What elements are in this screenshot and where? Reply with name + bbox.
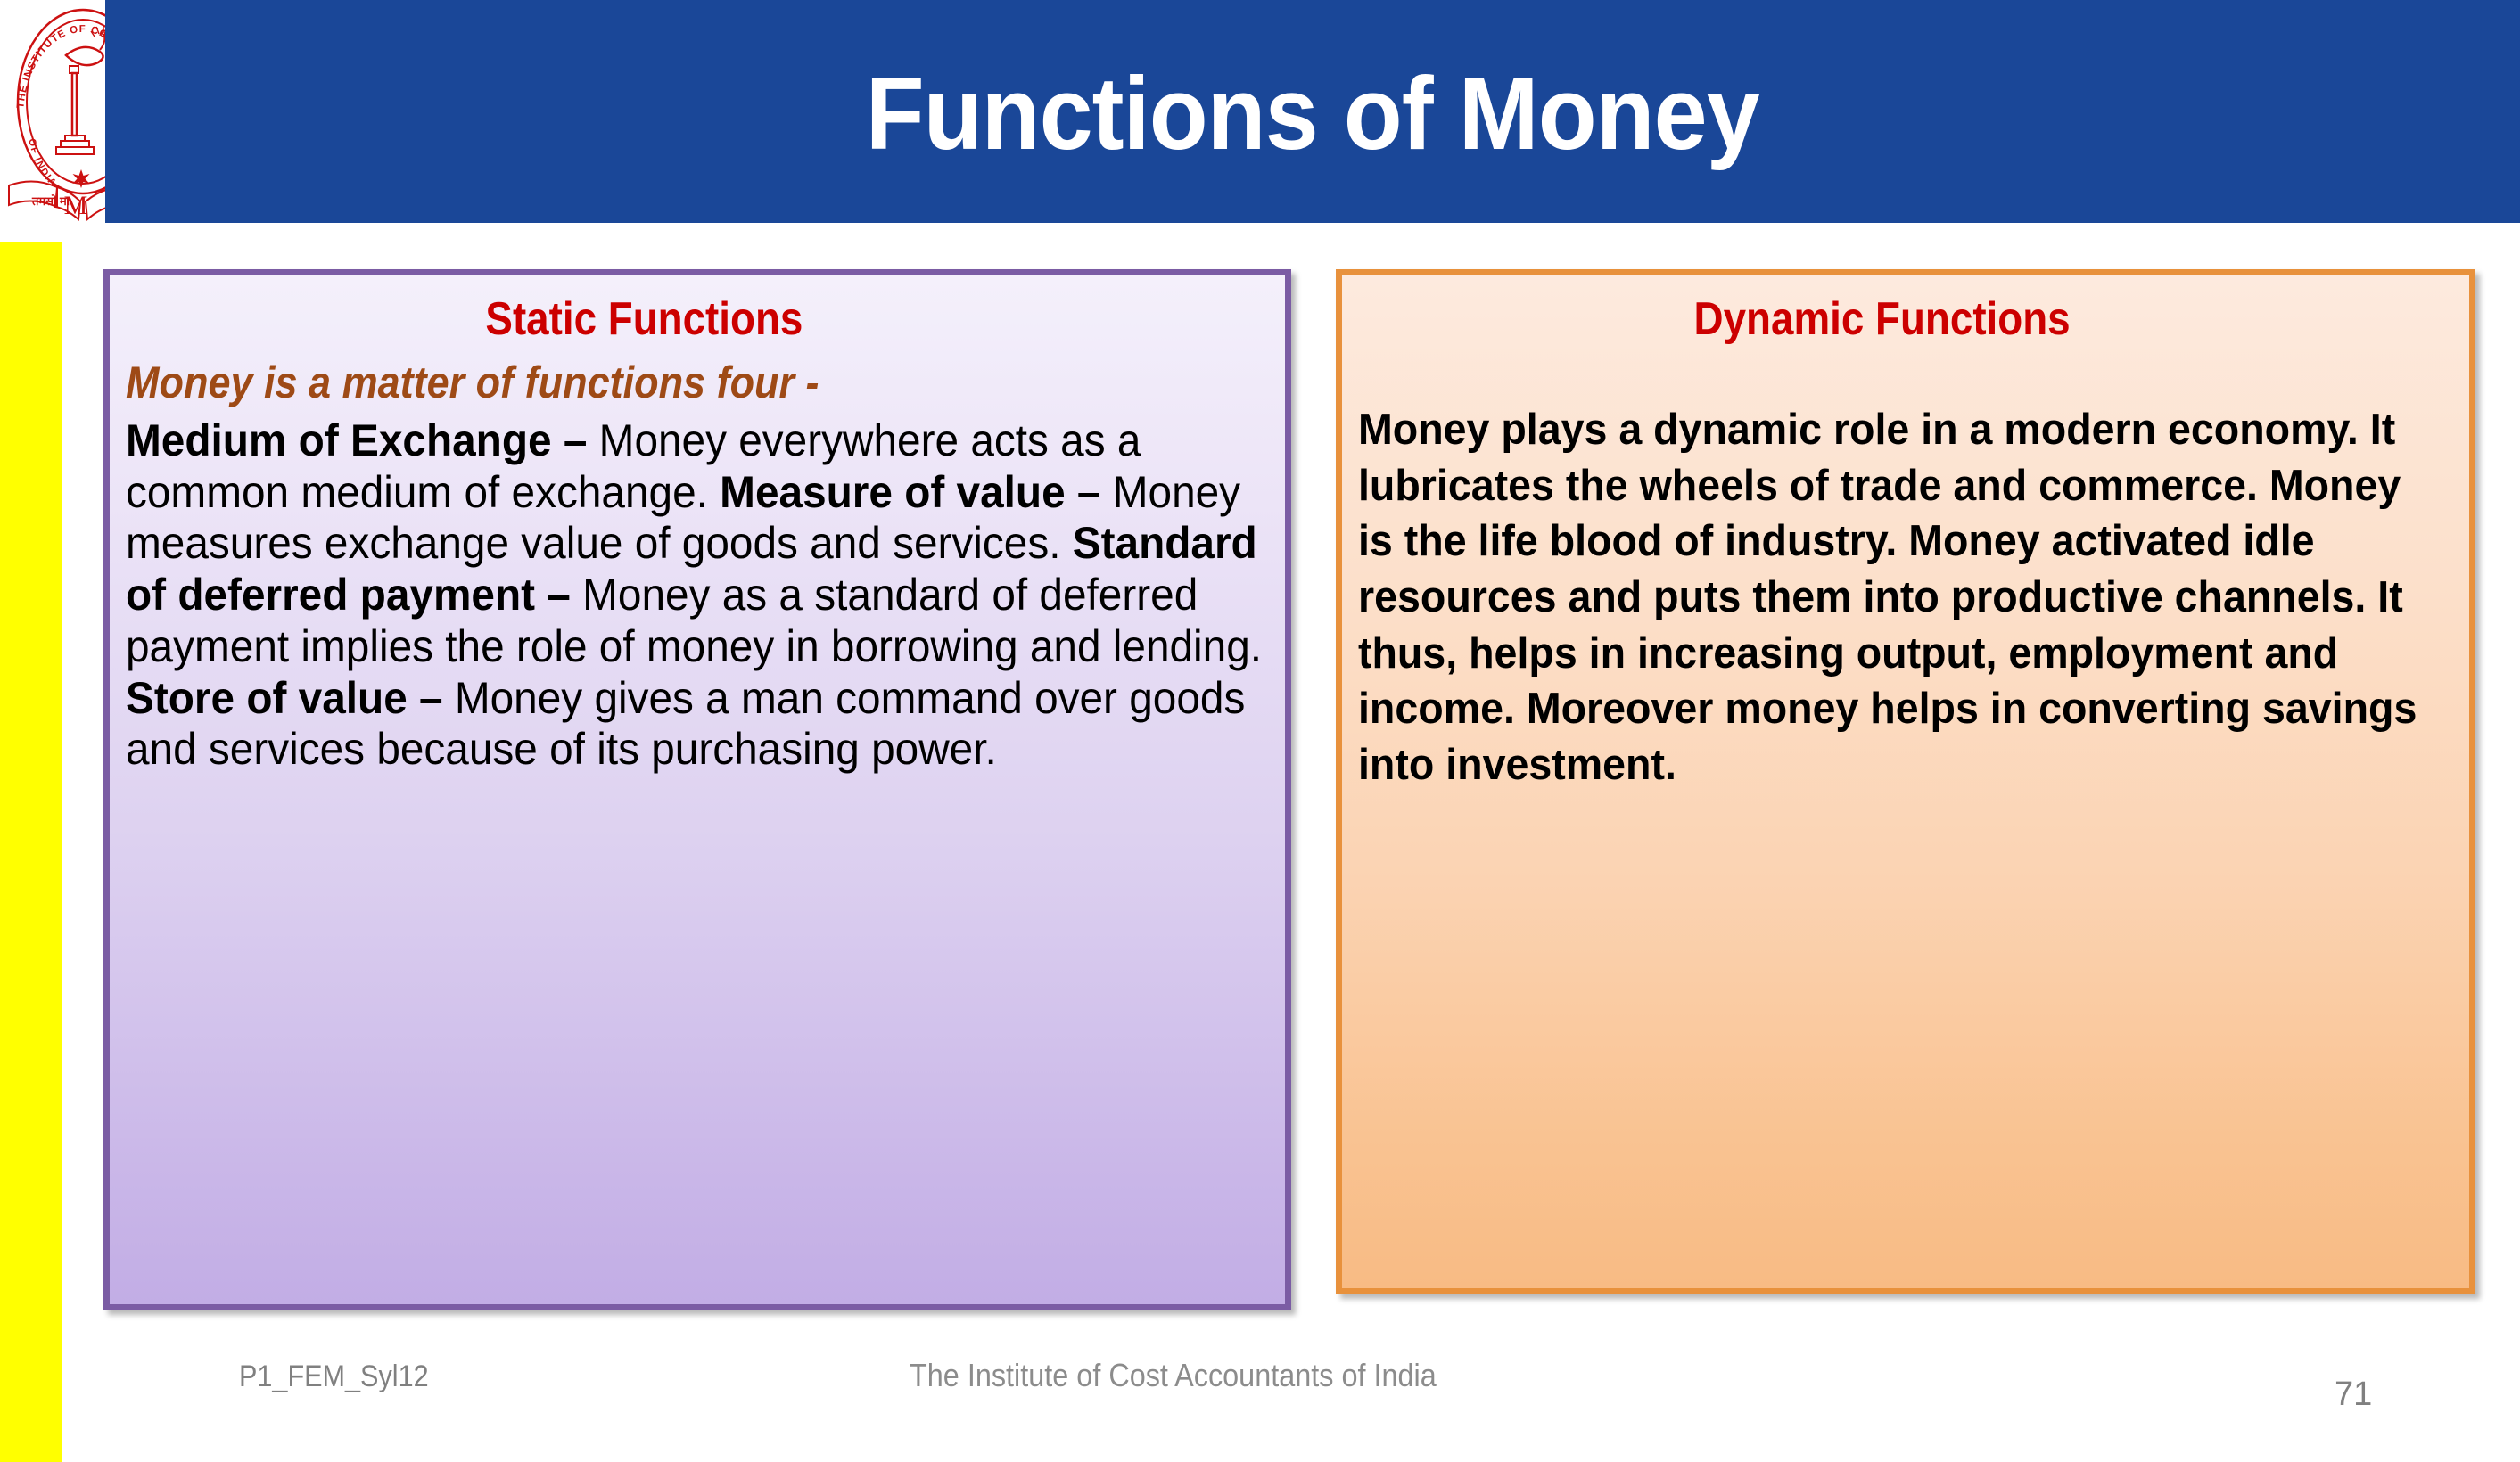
page-title: Functions of Money xyxy=(866,62,1759,165)
yellow-accent-bar xyxy=(0,242,62,1462)
footer-organisation: The Institute of Cost Accountants of Ind… xyxy=(910,1357,1437,1394)
slide-title-banner: Functions of Money xyxy=(105,0,2520,223)
dynamic-functions-body: Money plays a dynamic role in a modern e… xyxy=(1358,402,2442,793)
static-functions-body: Medium of Exchange – Money everywhere ac… xyxy=(126,415,1284,776)
static-item-3: Store of value – Money gives a man comma… xyxy=(126,673,1245,775)
static-item-0-lead: Medium of Exchange – xyxy=(126,415,599,465)
static-functions-subtitle: Money is a matter of functions four - xyxy=(126,359,1157,407)
static-item-3-lead: Store of value – xyxy=(126,673,455,723)
logo-monogram: M xyxy=(64,191,88,220)
static-functions-panel: Static Functions Money is a matter of fu… xyxy=(103,269,1291,1310)
static-functions-heading: Static Functions xyxy=(194,293,1204,347)
dynamic-functions-heading: Dynamic Functions xyxy=(1424,293,2388,347)
footer-syllabus-code: P1_FEM_Syl12 xyxy=(239,1359,429,1394)
static-item-1-lead: Measure of value – xyxy=(720,467,1113,517)
footer-page-number: 71 xyxy=(2335,1376,2372,1414)
dynamic-functions-panel: Dynamic Functions Money plays a dynamic … xyxy=(1336,269,2475,1294)
